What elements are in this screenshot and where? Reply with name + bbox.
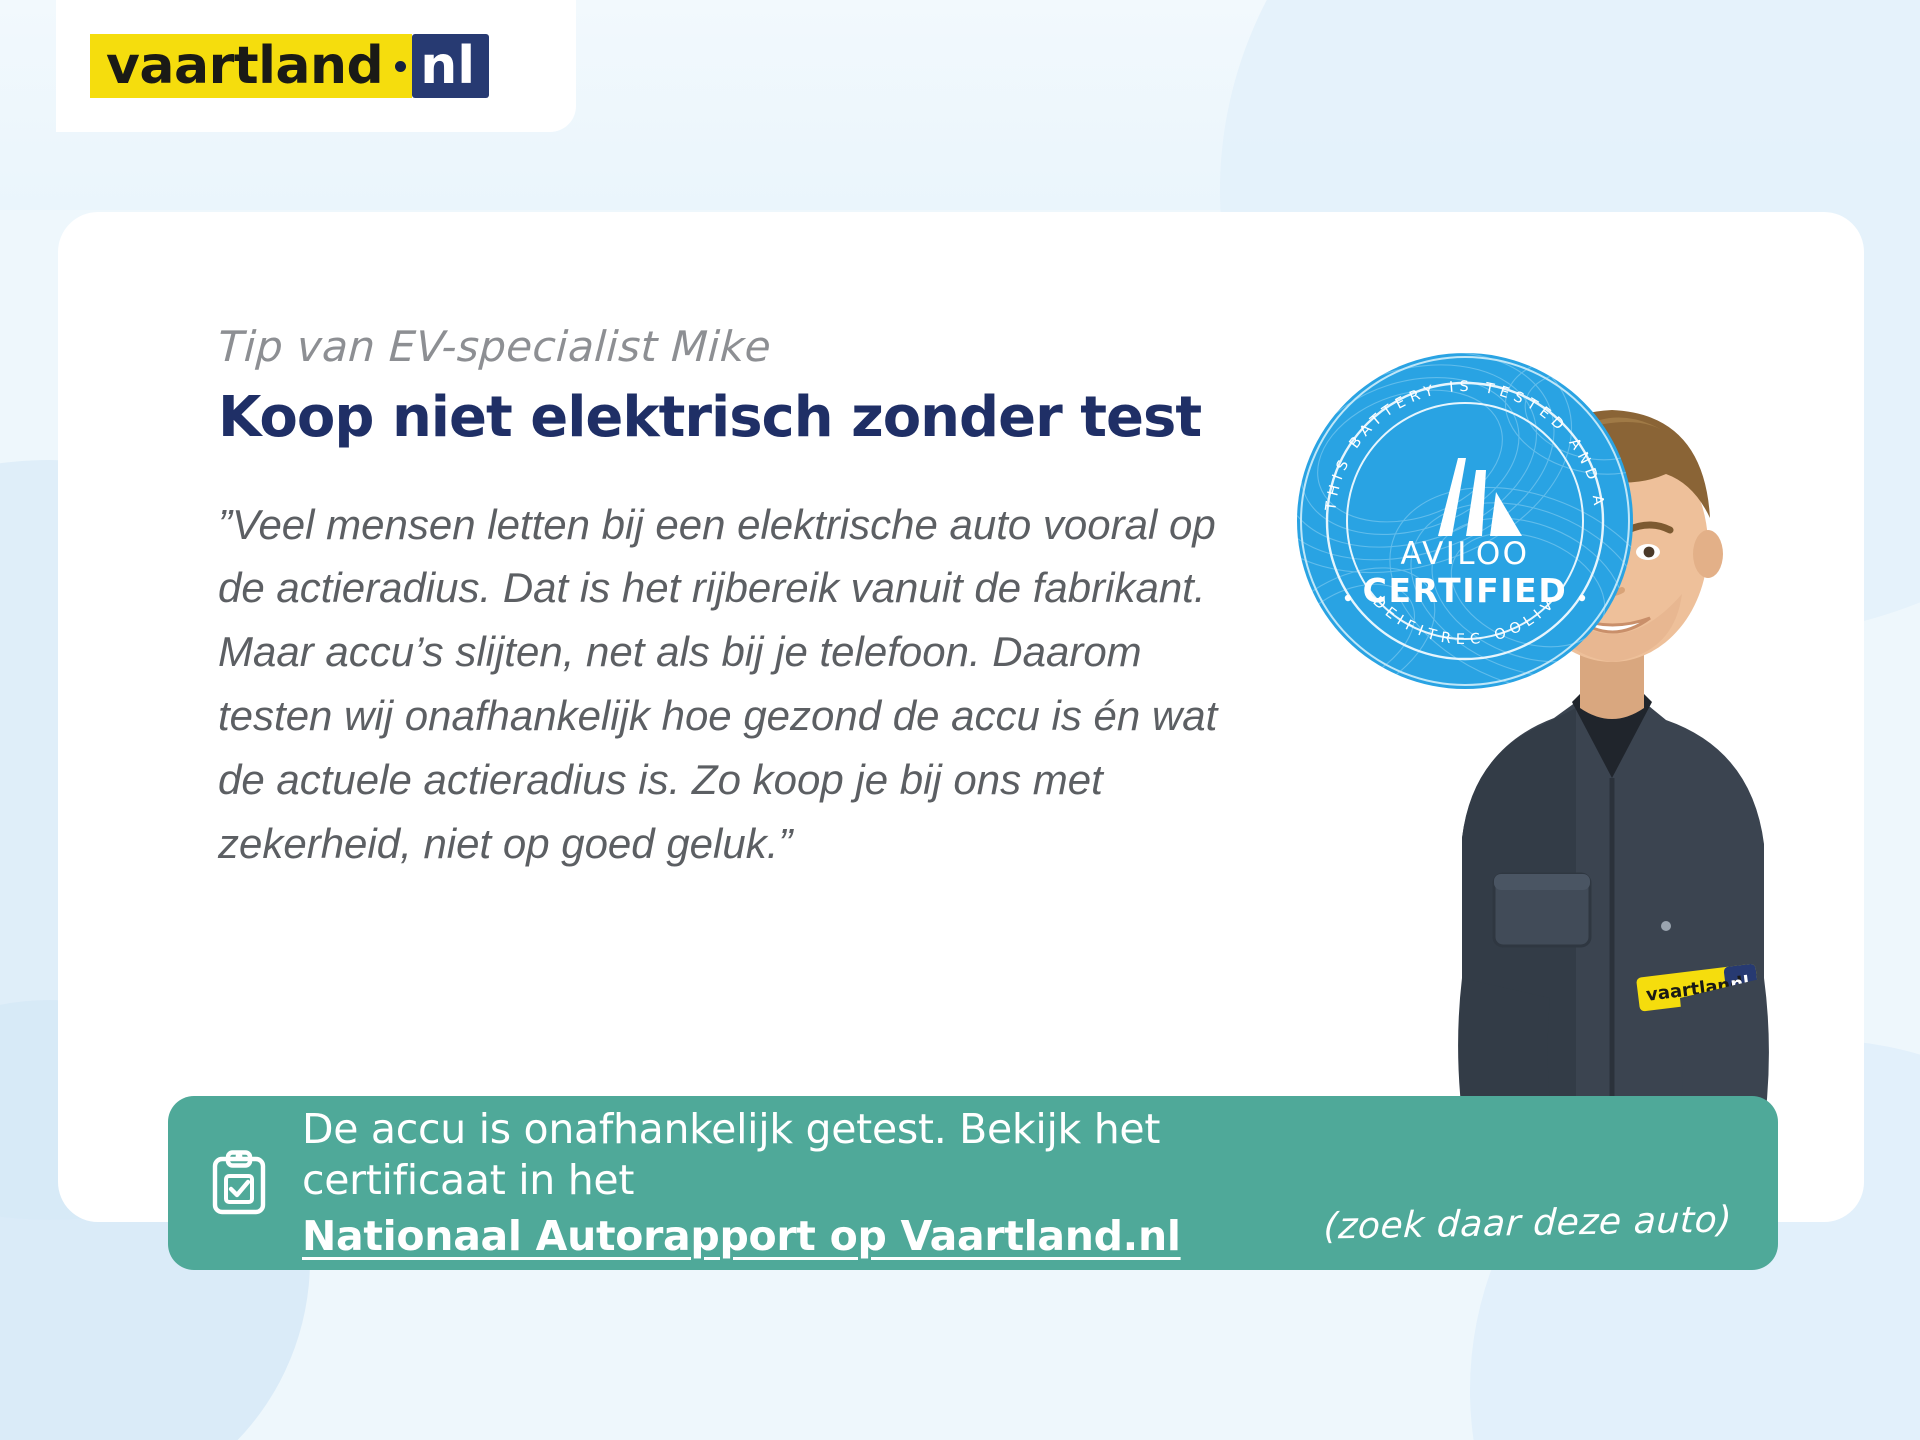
card-eyebrow: Tip van EV-specialist Mike <box>217 324 1299 370</box>
tip-card-content: Tip van EV-specialist Mike Koop niet ele… <box>218 324 1298 876</box>
brand-logo[interactable]: vaartland nl <box>56 0 576 132</box>
aviloo-certified-badge: THIS BATTERY IS TESTED AND A DEIFITREC O… <box>1290 346 1640 696</box>
certificate-banner: De accu is onafhankelijk getest. Bekijk … <box>168 1096 1778 1270</box>
logo-lockup: vaartland nl <box>90 34 489 98</box>
logo-wordmark: vaartland <box>90 34 395 98</box>
page-title: Koop niet elektrisch zonder test <box>218 388 1298 448</box>
svg-text:AVILOO: AVILOO <box>1401 536 1530 572</box>
quote-text: ”Veel mensen letten bij een elektrische … <box>218 493 1228 876</box>
banner-description: De accu is onafhankelijk getest. Bekijk … <box>302 1104 1290 1207</box>
svg-text:CERTIFIED: CERTIFIED <box>1363 571 1568 610</box>
banner-text-block: De accu is onafhankelijk getest. Bekijk … <box>302 1104 1290 1262</box>
clipboard-check-icon <box>210 1150 268 1216</box>
banner-handwritten-note: (zoek daar deze auto) <box>1323 1199 1733 1247</box>
logo-dot-icon <box>395 34 412 98</box>
autorapport-link[interactable]: Nationaal Autorapport op Vaartland.nl <box>302 1211 1181 1262</box>
logo-tld: nl <box>412 34 489 98</box>
